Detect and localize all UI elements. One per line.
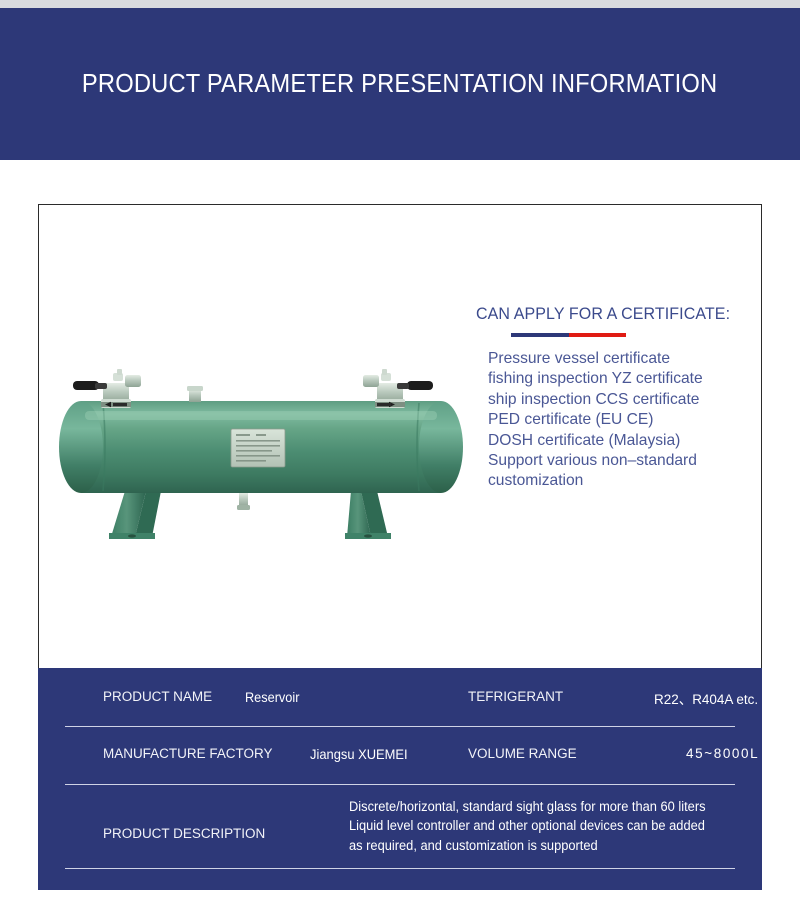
row-separator	[65, 726, 735, 727]
list-item: Support various non–standard	[488, 451, 756, 471]
description-line: Liquid level controller and other option…	[349, 816, 706, 835]
list-item: DOSH certificate (Malaysia)	[488, 431, 756, 451]
divider-segment-navy	[511, 333, 569, 337]
row-separator	[65, 784, 735, 785]
tank-nameplate	[231, 429, 285, 467]
list-item: customization	[488, 471, 756, 491]
spec-value-product-description: Discrete/horizontal, standard sight glas…	[349, 797, 706, 855]
spec-label-refrigerant: TEFRIGERANT	[468, 689, 563, 705]
header-banner: PRODUCT PARAMETER PRESENTATION INFORMATI…	[0, 8, 800, 160]
certificate-divider	[511, 333, 626, 337]
row-separator	[65, 868, 735, 869]
saddle-leg-right	[345, 491, 391, 539]
reservoir-tank-illustration	[51, 345, 471, 565]
divider-segment-red	[569, 333, 627, 337]
description-line: as required, and customization is suppor…	[349, 836, 706, 855]
description-line: Discrete/horizontal, standard sight glas…	[349, 797, 706, 816]
product-photo	[51, 345, 471, 565]
product-parameter-page: PRODUCT PARAMETER PRESENTATION INFORMATI…	[0, 0, 800, 906]
saddle-leg-left	[109, 491, 161, 539]
spec-label-volume-range: VOLUME RANGE	[468, 746, 577, 762]
spec-value-manufacture-factory: Jiangsu XUEMEI	[310, 747, 408, 762]
list-item: ship inspection CCS certificate	[488, 390, 756, 410]
product-showcase-card: CAN APPLY FOR A CERTIFICATE: Pressure ve…	[38, 204, 762, 668]
bottom-drain	[239, 493, 248, 507]
spec-label-product-description: PRODUCT DESCRIPTION	[103, 826, 265, 842]
list-item: fishing inspection YZ certificate	[488, 369, 756, 389]
certificate-panel: CAN APPLY FOR A CERTIFICATE: Pressure ve…	[476, 305, 756, 492]
list-item: Pressure vessel certificate	[488, 349, 756, 369]
list-item: PED certificate (EU CE)	[488, 410, 756, 430]
certificate-list: Pressure vessel certificate fishing insp…	[488, 349, 756, 492]
spec-value-refrigerant: R22、R404A etc.	[654, 689, 758, 709]
specification-table: PRODUCT NAME Reservoir TEFRIGERANT R22、R…	[38, 668, 762, 890]
certificate-heading: CAN APPLY FOR A CERTIFICATE:	[476, 305, 748, 324]
page-title: PRODUCT PARAMETER PRESENTATION INFORMATI…	[82, 70, 717, 99]
spec-value-product-name: Reservoir	[245, 690, 299, 705]
spec-label-manufacture-factory: MANUFACTURE FACTORY	[103, 746, 273, 762]
spec-label-product-name: PRODUCT NAME	[103, 689, 212, 705]
top-strip	[0, 0, 800, 8]
spec-value-volume-range: 45~8000L	[686, 746, 759, 762]
